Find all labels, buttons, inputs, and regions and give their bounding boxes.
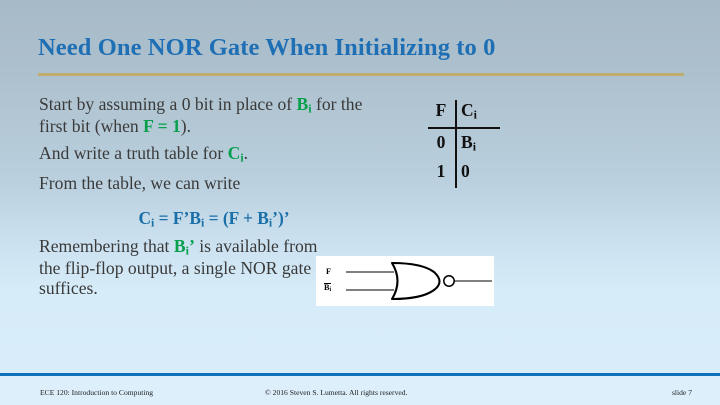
truth-table-header-c-letter: C bbox=[461, 100, 474, 120]
overbar-group: Bi bbox=[324, 283, 331, 293]
paragraph-2-text-a: And write a truth table for bbox=[39, 143, 228, 163]
title-underline-rule bbox=[38, 73, 684, 76]
truth-table-row: Bi bbox=[461, 132, 495, 155]
nor-gate-schematic bbox=[316, 256, 494, 306]
eq-b: B bbox=[189, 208, 201, 228]
variable-b-letter: B bbox=[297, 94, 309, 114]
variable-b-prime-letter: B bbox=[174, 236, 186, 256]
boolean-equation: Ci = F’Bi = (F + Bi’)’ bbox=[39, 208, 389, 231]
truth-table-cell-subscript: i bbox=[473, 140, 476, 154]
eq-equals-2: = ( bbox=[204, 208, 228, 228]
variable-b-sub-i: Bi bbox=[297, 94, 312, 114]
paragraph-2-text-b: . bbox=[244, 143, 248, 163]
truth-table: F Ci 0 Bi 1 0 bbox=[425, 98, 515, 190]
circuit-diagram-figure: F Bi bbox=[316, 256, 494, 306]
truth-table-header-c: Ci bbox=[461, 100, 495, 123]
condition-f-equals-1: F = 1 bbox=[143, 116, 181, 136]
truth-table-row: 0 bbox=[429, 132, 453, 153]
slide-canvas: Need One NOR Gate When Initializing to 0… bbox=[0, 0, 720, 405]
footer-course-name: ECE 120: Introduction to Computing bbox=[40, 388, 153, 397]
paragraph-1: Start by assuming a 0 bit in place of Bi… bbox=[39, 94, 389, 136]
eq-f: F bbox=[173, 208, 184, 228]
truth-table-header-divider bbox=[428, 127, 500, 129]
body-content: Start by assuming a 0 bit in place of Bi… bbox=[39, 94, 389, 201]
circuit-input-label-b-bar: Bi bbox=[324, 283, 331, 293]
truth-table-row: 0 bbox=[461, 161, 495, 184]
inversion-bubble bbox=[444, 276, 454, 286]
truth-table-header-f: F bbox=[429, 100, 453, 121]
paragraph-1-text-c: ). bbox=[181, 116, 191, 136]
paragraph-4: Remembering that Bi’ is available from t… bbox=[39, 236, 329, 299]
eq-equals-1: = bbox=[154, 208, 173, 228]
truth-table-cell-value: 0 bbox=[461, 161, 470, 181]
footer-slide-number: slide 7 bbox=[672, 388, 692, 397]
nor-gate-body bbox=[392, 263, 440, 299]
eq-plus: + bbox=[239, 208, 258, 228]
page-title: Need One NOR Gate When Initializing to 0 bbox=[38, 34, 678, 62]
paragraph-1-text-a: Start by assuming a 0 bit in place of bbox=[39, 94, 297, 114]
truth-table-cell-value: B bbox=[461, 132, 473, 152]
eq-c: C bbox=[138, 208, 151, 228]
footer-copyright: © 2016 Steven S. Lumetta. All rights res… bbox=[265, 388, 407, 397]
truth-table-header-c-subscript: i bbox=[474, 108, 477, 122]
paragraph-4-text-a: Remembering that bbox=[39, 236, 174, 256]
footer-divider-rule bbox=[0, 373, 720, 376]
paragraph-2: And write a truth table for Ci. bbox=[39, 143, 389, 165]
eq-f2: F bbox=[229, 208, 239, 228]
paragraph-3: From the table, we can write bbox=[39, 173, 389, 194]
circuit-input-label-f: F bbox=[326, 267, 331, 276]
truth-table-vertical-divider bbox=[455, 100, 457, 188]
truth-table-row: 1 bbox=[429, 161, 453, 182]
variable-c-letter: C bbox=[228, 143, 241, 163]
circuit-input-b-subscript: i bbox=[329, 287, 331, 293]
eq-prime-3: ’ bbox=[284, 208, 290, 228]
variable-b-prime: Bi’ bbox=[174, 236, 195, 256]
eq-b2: B bbox=[257, 208, 269, 228]
variable-c-sub-i: Ci bbox=[228, 143, 244, 163]
